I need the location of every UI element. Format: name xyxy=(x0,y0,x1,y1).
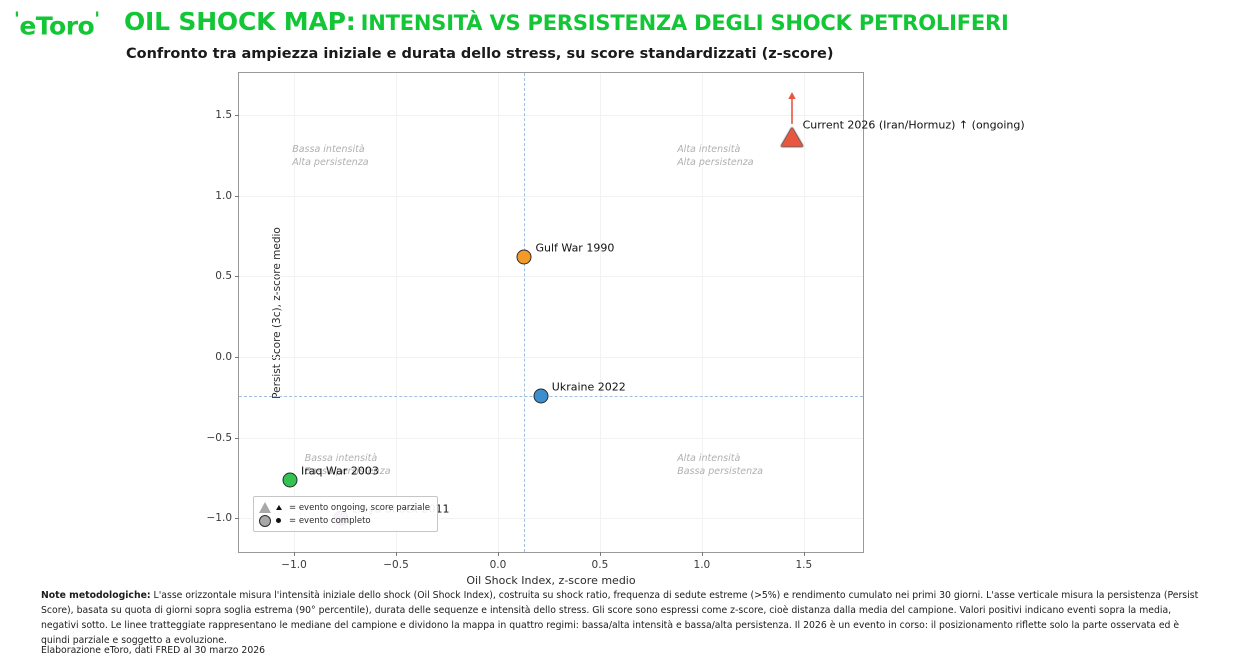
gridline-vertical xyxy=(804,73,805,552)
quadrant-annotation-bottom-right: Alta intensitàBassa persistenza xyxy=(677,453,763,479)
x-tick-label: 1.5 xyxy=(795,559,812,571)
x-tick-mark xyxy=(702,552,703,556)
median-line-horizontal xyxy=(239,396,863,397)
y-tick-label: −0.5 xyxy=(207,432,233,444)
quadrant-annotation-top-right: Alta intensitàAlta persistenza xyxy=(677,144,753,170)
gridline-horizontal xyxy=(239,196,863,197)
gridline-horizontal xyxy=(239,438,863,439)
plot-axes: Oil Shock Index, z-score medio Persist S… xyxy=(238,72,864,553)
data-point-label: Current 2026 (Iran/Hormuz) ↑ (ongoing) xyxy=(803,119,1025,132)
data-point-label: Gulf War 1990 xyxy=(535,242,614,255)
y-tick-mark xyxy=(235,357,239,358)
quadrant-line-1: Alta intensità xyxy=(677,453,763,466)
data-point-label: Ukraine 2022 xyxy=(552,380,626,393)
gridline-vertical xyxy=(396,73,397,552)
y-axis-label: Persist Score (3c), z-score medio xyxy=(271,227,283,399)
y-tick-label: 1.5 xyxy=(215,109,232,121)
legend-markers xyxy=(259,515,289,527)
x-tick-mark xyxy=(498,552,499,556)
chart-container: Oil Shock Index, z-score medio Persist S… xyxy=(0,0,1241,662)
data-point-marker-triangle[interactable] xyxy=(781,128,803,147)
quadrant-line-2: Alta persistenza xyxy=(292,157,368,170)
x-tick-label: −0.5 xyxy=(383,559,409,571)
y-tick-mark xyxy=(235,438,239,439)
y-tick-label: −1.0 xyxy=(207,512,233,524)
y-tick-mark xyxy=(235,196,239,197)
x-tick-mark xyxy=(294,552,295,556)
chart-legend: = evento ongoing, score parziale= evento… xyxy=(253,496,438,532)
x-tick-mark xyxy=(396,552,397,556)
median-line-vertical xyxy=(524,73,525,552)
y-tick-label: 0.5 xyxy=(215,270,232,282)
legend-circle-large-icon xyxy=(259,515,271,527)
quadrant-line-1: Bassa intensità xyxy=(292,144,368,157)
methodology-notes: Note metodologiche: L'asse orizzontale m… xyxy=(41,588,1203,648)
notes-label: Note metodologiche: xyxy=(41,590,151,601)
x-tick-mark xyxy=(600,552,601,556)
legend-markers xyxy=(259,502,289,513)
gridline-horizontal xyxy=(239,357,863,358)
quadrant-line-2: Bassa persistenza xyxy=(677,466,763,479)
quadrant-line-2: Alta persistenza xyxy=(677,157,753,170)
x-tick-label: −1.0 xyxy=(281,559,307,571)
y-tick-mark xyxy=(235,518,239,519)
data-point-marker-circle[interactable] xyxy=(533,388,548,403)
gridline-vertical xyxy=(600,73,601,552)
quadrant-line-1: Alta intensità xyxy=(677,144,753,157)
y-tick-label: 0.0 xyxy=(215,351,232,363)
legend-item: = evento completo xyxy=(259,514,430,527)
legend-triangle-large-icon xyxy=(259,502,271,513)
legend-item-label: = evento completo xyxy=(289,516,371,526)
gridline-horizontal xyxy=(239,115,863,116)
legend-circle-small-icon xyxy=(276,518,281,523)
ongoing-arrow-icon xyxy=(786,91,797,129)
data-point-marker-circle[interactable] xyxy=(517,250,532,265)
legend-item: = evento ongoing, score parziale xyxy=(259,501,430,514)
x-tick-label: 0.5 xyxy=(592,559,609,571)
gridline-horizontal xyxy=(239,276,863,277)
y-tick-mark xyxy=(235,276,239,277)
x-tick-label: 1.0 xyxy=(694,559,711,571)
legend-triangle-small-icon xyxy=(276,505,282,510)
data-point-label: Iraq War 2003 xyxy=(301,464,379,477)
data-point-marker-circle[interactable] xyxy=(282,472,297,487)
notes-body: L'asse orizzontale misura l'intensità in… xyxy=(41,590,1198,646)
y-tick-label: 1.0 xyxy=(215,190,232,202)
x-axis-label: Oil Shock Index, z-score medio xyxy=(466,574,635,587)
x-tick-label: 0.0 xyxy=(490,559,507,571)
source-line: Elaborazione eToro, dati FRED al 30 marz… xyxy=(41,645,265,656)
gridline-vertical xyxy=(498,73,499,552)
quadrant-annotation-top-left: Bassa intensitàAlta persistenza xyxy=(292,144,368,170)
x-tick-mark xyxy=(804,552,805,556)
y-tick-mark xyxy=(235,115,239,116)
legend-item-label: = evento ongoing, score parziale xyxy=(289,503,430,513)
